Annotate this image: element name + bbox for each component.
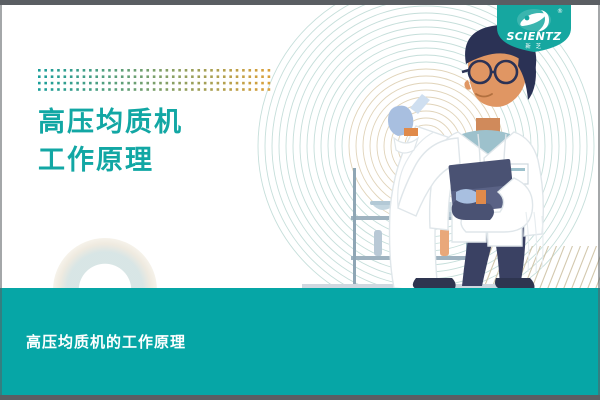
top-chrome-bar: [0, 0, 600, 5]
page-title-line-1: 高压均质机: [38, 104, 183, 142]
banner-caption: 高压均质机的工作原理: [26, 331, 186, 352]
logo-wordmark: SCIENTZ: [506, 30, 562, 43]
dot-matrix-decoration: [38, 68, 274, 94]
bottom-chrome-bar: [0, 395, 600, 400]
scientist-illustration: [300, 16, 600, 306]
slide-canvas: 高压均质机 工作原理: [0, 0, 600, 400]
left-chrome-edge: [0, 0, 2, 400]
logo-registered-mark: ®: [557, 8, 563, 15]
page-title-line-2: 工作原理: [38, 142, 183, 180]
page-title: 高压均质机 工作原理: [38, 104, 183, 180]
logo-subtext: 新 芝: [525, 42, 542, 50]
scientz-logo: ® SCIENTZ 新 芝: [497, 2, 571, 52]
bottom-caption-banner: 高压均质机的工作原理: [0, 288, 600, 395]
